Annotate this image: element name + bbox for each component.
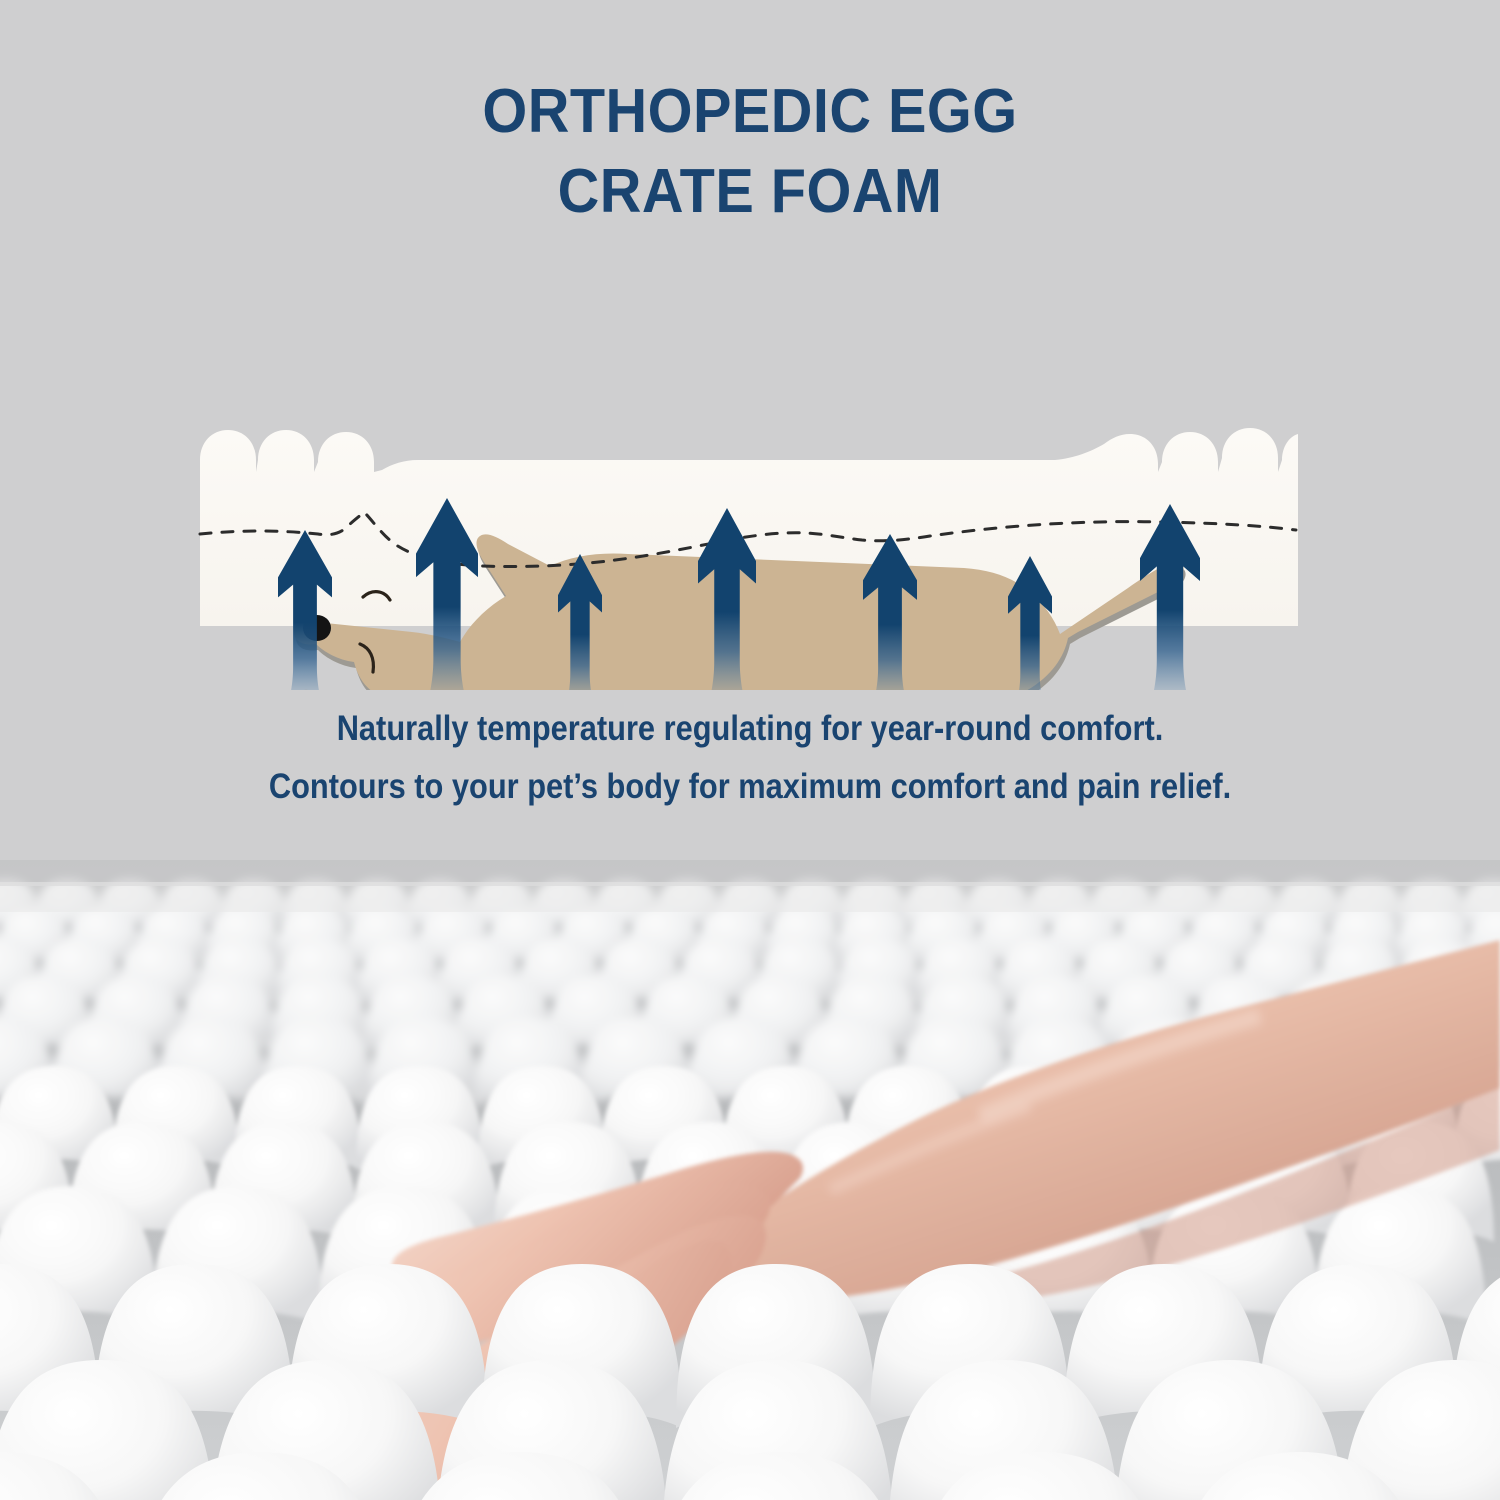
photo-top-haze (0, 882, 1500, 912)
info-panel: ORTHOPEDIC EGG CRATE FOAM (0, 0, 1500, 860)
foam-texture-photo (0, 860, 1500, 1500)
product-feature-image: ORTHOPEDIC EGG CRATE FOAM (0, 0, 1500, 1500)
foam-support-diagram (0, 300, 1500, 690)
feature-description: Naturally temperature regulating for yea… (90, 700, 1410, 816)
description-line-2: Contours to your pet’s body for maximum … (90, 758, 1410, 816)
diagram-svg (0, 300, 1500, 690)
description-line-1: Naturally temperature regulating for yea… (90, 700, 1410, 758)
foam-photo-svg (0, 860, 1500, 1500)
page-title: ORTHOPEDIC EGG CRATE FOAM (53, 72, 1448, 232)
